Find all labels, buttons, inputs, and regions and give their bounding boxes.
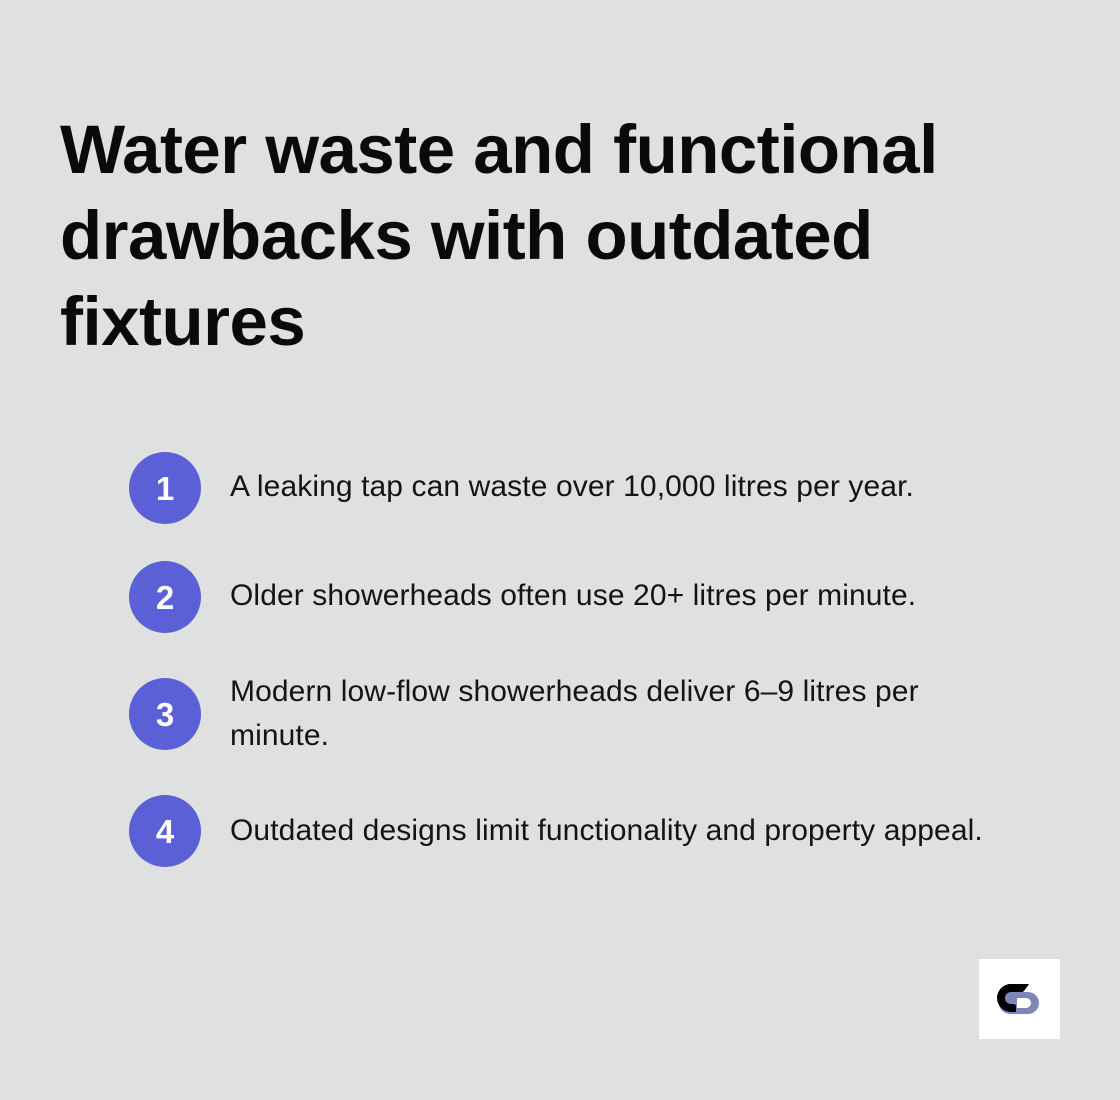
- list-item-number-badge: 3: [129, 678, 201, 750]
- brand-logo-icon: [997, 982, 1043, 1016]
- facts-list: 1 A leaking tap can waste over 10,000 li…: [129, 452, 1014, 867]
- list-item: 3 Modern low-flow showerheads deliver 6–…: [129, 670, 1014, 758]
- list-item-number-badge: 2: [129, 561, 201, 633]
- list-item: 2 Older showerheads often use 20+ litres…: [129, 561, 1014, 633]
- infographic-canvas: Water waste and functional drawbacks wit…: [0, 0, 1120, 1100]
- brand-logo-container: [979, 959, 1060, 1039]
- list-item-text: A leaking tap can waste over 10,000 litr…: [230, 452, 1014, 509]
- page-title: Water waste and functional drawbacks wit…: [60, 107, 970, 365]
- list-item: 1 A leaking tap can waste over 10,000 li…: [129, 452, 1014, 524]
- list-item: 4 Outdated designs limit functionality a…: [129, 795, 1014, 867]
- list-item-text: Outdated designs limit functionality and…: [230, 809, 1014, 853]
- list-item-number-badge: 1: [129, 452, 201, 524]
- list-item-text: Modern low-flow showerheads deliver 6–9 …: [230, 670, 1014, 758]
- list-item-text: Older showerheads often use 20+ litres p…: [230, 561, 1014, 618]
- list-item-number-badge: 4: [129, 795, 201, 867]
